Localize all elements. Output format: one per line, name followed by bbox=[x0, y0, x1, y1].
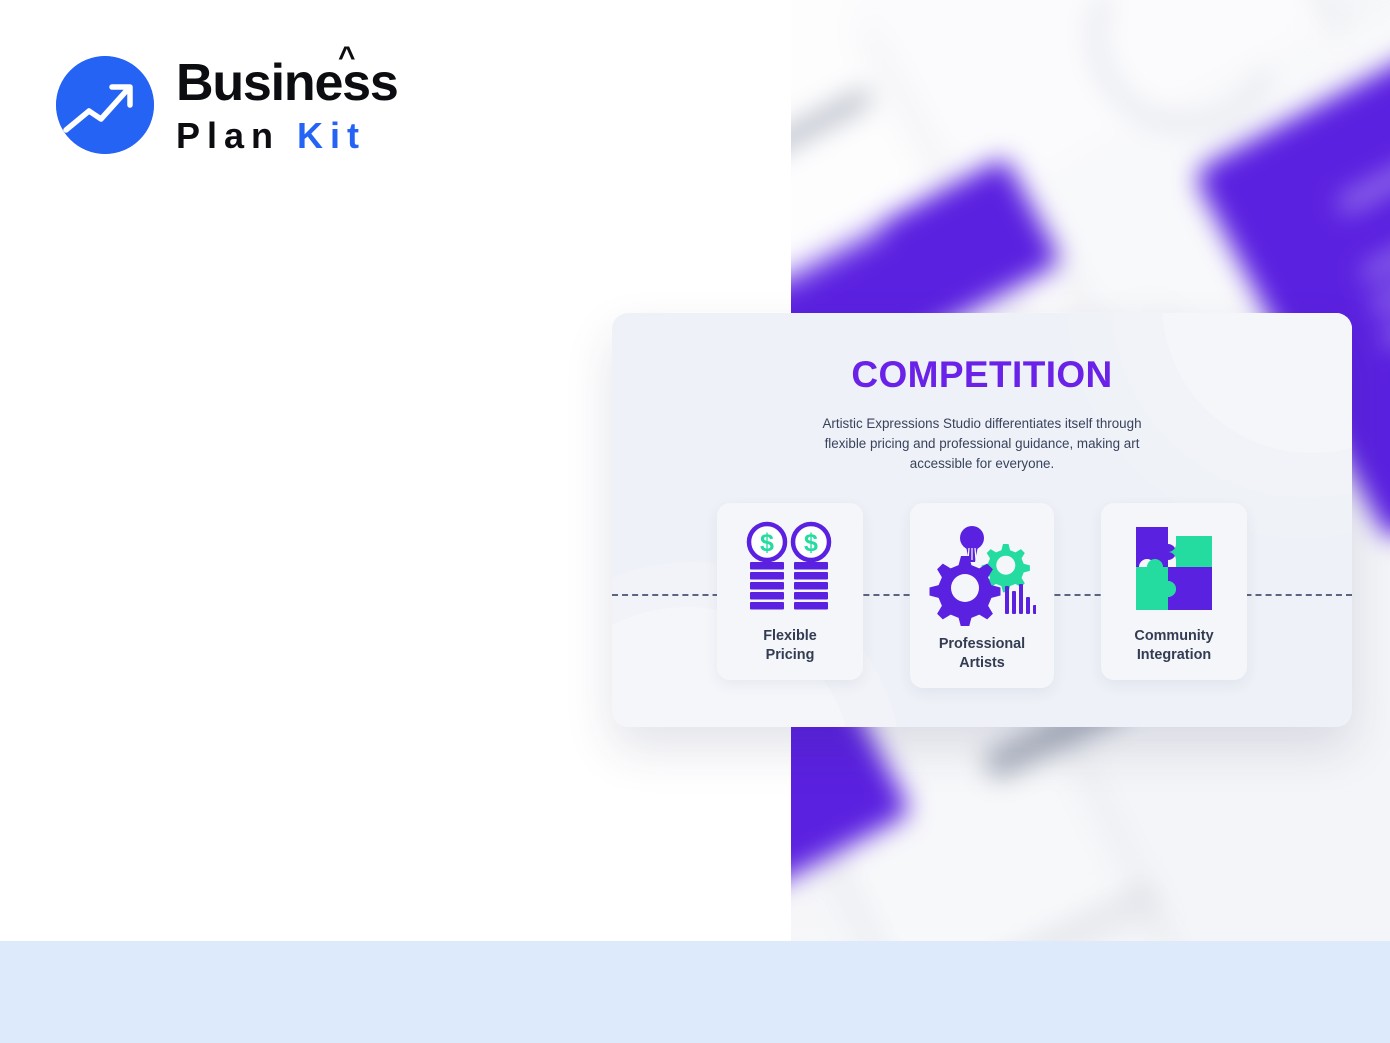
feature-label: Professional Artists bbox=[918, 635, 1046, 672]
brand-name-line1: Business ^ bbox=[176, 57, 398, 109]
feature-label: Flexible Pricing bbox=[725, 627, 855, 664]
slide-page: Business ^ Plan Kit Competition Identify… bbox=[0, 0, 1390, 1043]
slide-preview-content: COMPETITION Artistic Expressions Studio … bbox=[612, 313, 1352, 727]
brand-accent-caret: ^ bbox=[338, 43, 354, 73]
feature-label: Community Integration bbox=[1109, 627, 1239, 664]
feature-label-line2: Artists bbox=[959, 655, 1005, 671]
trend-arrow-circle-icon bbox=[56, 56, 154, 154]
svg-text:$: $ bbox=[804, 529, 818, 557]
feature-label-line1: Community bbox=[1134, 628, 1213, 644]
gears-lightbulb-chart-icon bbox=[918, 515, 1046, 629]
svg-text:$: $ bbox=[760, 529, 774, 557]
feature-label-line1: Professional bbox=[939, 636, 1025, 652]
feature-card-flexible-pricing[interactable]: $ $ Flexible Pricing bbox=[717, 503, 863, 680]
feature-label-line2: Integration bbox=[1137, 647, 1211, 663]
brand-name-kit: Kit bbox=[297, 115, 366, 156]
feature-card-community-integration[interactable]: Community Integration bbox=[1101, 503, 1247, 680]
feature-label-line1: Flexible bbox=[763, 628, 817, 644]
feature-label-line2: Pricing bbox=[766, 647, 815, 663]
brand-logo: Business ^ Plan Kit bbox=[56, 55, 398, 154]
bottom-accent-band bbox=[0, 941, 1390, 1043]
brand-wordmark: Business ^ Plan Kit bbox=[176, 55, 398, 154]
feature-row: $ $ Flexible Pricing bbox=[717, 503, 1247, 688]
brand-name-plan: Plan bbox=[176, 115, 280, 156]
feature-card-professional-artists[interactable]: Professional Artists bbox=[910, 503, 1054, 688]
brand-name-line1-text: Business bbox=[176, 54, 398, 112]
slide-title: COMPETITION bbox=[612, 354, 1352, 396]
brand-name-line2: Plan Kit bbox=[176, 118, 398, 154]
slide-description: Artistic Expressions Studio differentiat… bbox=[802, 414, 1162, 475]
coin-stacks-icon: $ $ bbox=[725, 517, 855, 621]
puzzle-pieces-icon bbox=[1109, 517, 1239, 621]
slide-preview-card[interactable]: COMPETITION Artistic Expressions Studio … bbox=[612, 313, 1352, 727]
